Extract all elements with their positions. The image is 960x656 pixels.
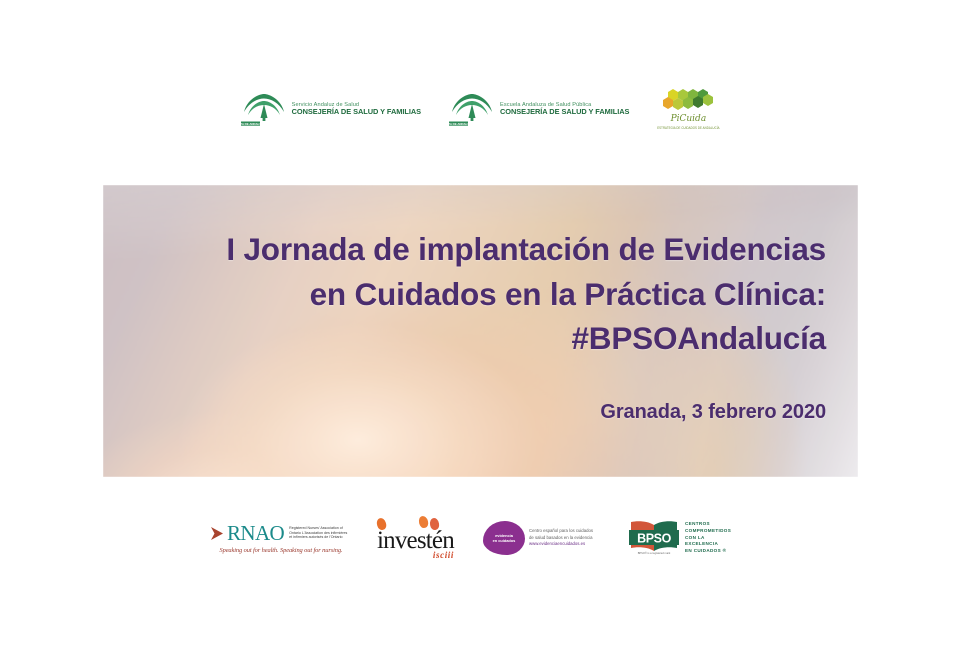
junta-de-andalucia-arch-icon: JUNTA DE ANDALUCIA xyxy=(449,92,495,126)
svg-text:BPSO: BPSO xyxy=(637,531,672,545)
svg-text:JUNTA DE ANDALUCIA: JUNTA DE ANDALUCIA xyxy=(449,122,475,126)
bpso-text-line-5: EN CUIDADOS ® xyxy=(685,548,731,555)
bpso-open-book-icon: BPSO BPSO® is a registered mark xyxy=(627,520,681,556)
page-title-line-1: I Jornada de implantación de Evidencias xyxy=(226,227,826,272)
logo-bpso: BPSO BPSO® is a registered mark CENTROS … xyxy=(627,520,749,556)
centro-espanol-text: Centro español para los cuidados de salu… xyxy=(529,528,593,547)
logo-escuela-andaluza-de-salud-publica: JUNTA DE ANDALUCIA Escuela Andaluza de S… xyxy=(449,92,629,126)
bpso-text-line-1: CENTROS xyxy=(685,521,731,528)
evidencia-badge-line-2: en cuidados xyxy=(493,538,516,543)
logo-investen: investén isciii xyxy=(377,516,457,561)
page-title-line-2: en Cuidados en la Práctica Clínica: xyxy=(310,272,826,317)
rnao-tagline: Speaking out for health. Speaking out fo… xyxy=(211,547,351,554)
centro-espanol-line-1: Centro español para los cuidados xyxy=(529,528,593,534)
hexagon-cluster-icon xyxy=(660,88,716,114)
page-title-line-3-hashtag: #BPSOAndalucía xyxy=(571,316,826,361)
centro-espanol-url[interactable]: www.evidenciaencuidados.es xyxy=(529,541,593,547)
svg-text:JUNTA DE ANDALUCIA: JUNTA DE ANDALUCIA xyxy=(241,122,267,126)
picuida-wordmark: PiCuida xyxy=(671,115,707,124)
bottom-logo-bar: RNAO Registered Nurses' Association of O… xyxy=(0,505,960,571)
picuida-tagline: ESTRATEGIA DE CUIDADOS DE ANDALUCÍA xyxy=(657,125,719,130)
logo-text-block: Servicio Andaluz de Salud CONSEJERÍA DE … xyxy=(292,102,421,117)
logo-servicio-andaluz-de-salud: JUNTA DE ANDALUCIA Servicio Andaluz de S… xyxy=(241,92,421,126)
logo-text-block: Escuela Andaluza de Salud Pública CONSEJ… xyxy=(500,102,629,117)
logo-centro-espanol-evidencia: evidencia en cuidados Centro español par… xyxy=(483,521,601,555)
banner-text-block: I Jornada de implantación de Evidencias … xyxy=(103,185,858,477)
bpso-text-block: CENTROS COMPROMETIDOS CON LA EXCELENCIA … xyxy=(685,521,731,555)
logo-rnao: RNAO Registered Nurses' Association of O… xyxy=(211,523,351,554)
investen-wordmark: investén xyxy=(377,529,457,553)
orange-dots-icon xyxy=(377,516,457,529)
rnao-main-row: RNAO Registered Nurses' Association of O… xyxy=(211,523,351,544)
logo-picuida: PiCuida ESTRATEGIA DE CUIDADOS DE ANDALU… xyxy=(657,88,719,130)
event-banner: I Jornada de implantación de Evidencias … xyxy=(103,185,858,477)
slide-canvas: JUNTA DE ANDALUCIA Servicio Andaluz de S… xyxy=(0,0,960,656)
logo-title: CONSEJERÍA DE SALUD Y FAMILIAS xyxy=(292,108,421,117)
logo-title: CONSEJERÍA DE SALUD Y FAMILIAS xyxy=(500,108,629,117)
rnao-description: Registered Nurses' Association of Ontari… xyxy=(287,526,351,541)
bpso-text-line-2: COMPROMETIDOS xyxy=(685,528,731,535)
bpso-text-line-3: CON LA xyxy=(685,535,731,542)
evidencia-badge: evidencia en cuidados xyxy=(483,521,525,555)
rnao-wordmark: RNAO xyxy=(227,523,284,544)
svg-text:BPSO® is a registered mark: BPSO® is a registered mark xyxy=(638,551,671,555)
junta-de-andalucia-arch-icon: JUNTA DE ANDALUCIA xyxy=(241,92,287,126)
rnao-arrow-icon xyxy=(211,526,224,541)
event-date-location: Granada, 3 febrero 2020 xyxy=(600,401,826,424)
top-logo-bar: JUNTA DE ANDALUCIA Servicio Andaluz de S… xyxy=(0,84,960,134)
